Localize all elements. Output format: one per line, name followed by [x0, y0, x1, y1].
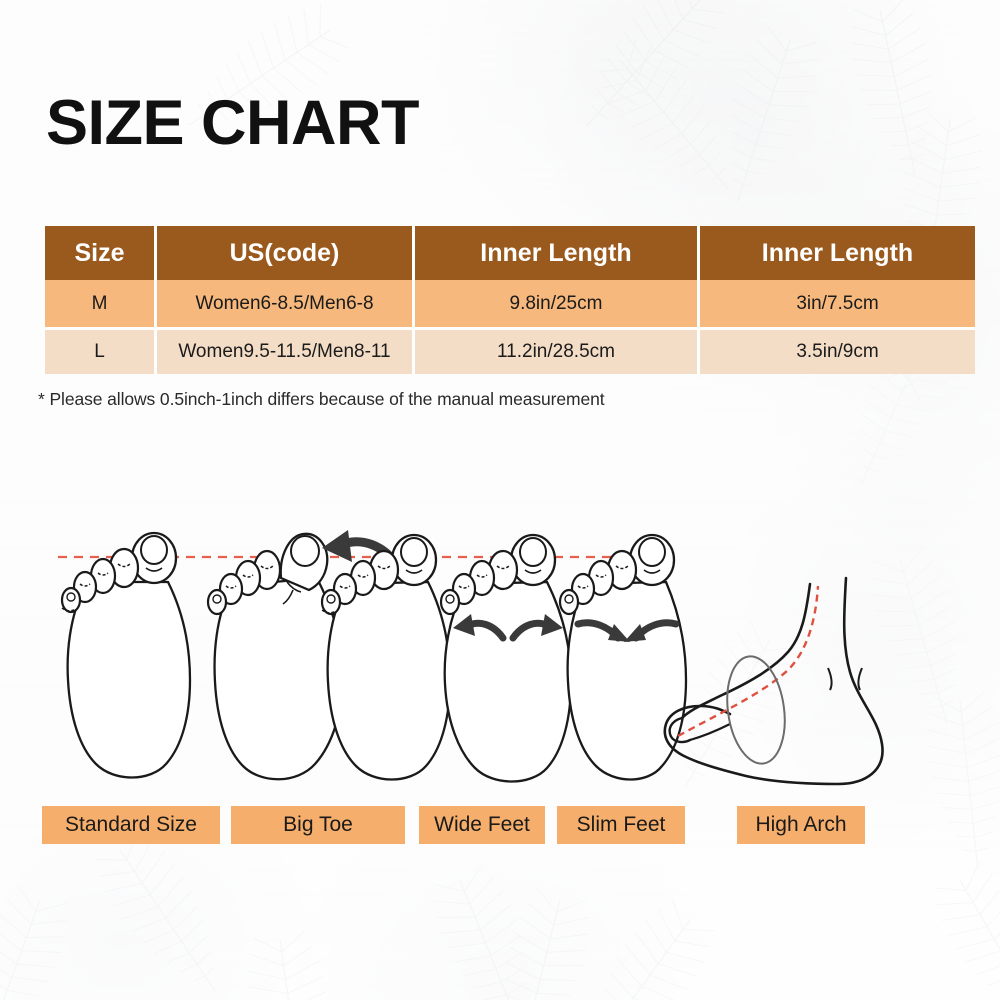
cell-inner-length-2: 3in/7.5cm: [700, 280, 975, 330]
arch-height-dashed-line: [678, 586, 818, 736]
size-chart-page: SIZE CHART Size US(code) Inner Length In…: [0, 0, 1000, 1000]
arch-measure-loop-icon: [721, 653, 791, 768]
cell-inner-length-1: 9.8in/25cm: [415, 280, 700, 330]
foot-sole-wide-icon: [441, 535, 571, 782]
foot-label-high-arch: High Arch: [737, 806, 865, 844]
column-header-inner-length-2: Inner Length: [700, 226, 975, 280]
column-header-inner-length-1: Inner Length: [415, 226, 700, 280]
foot-sole-standard-icon: [62, 533, 190, 778]
page-title: SIZE CHART: [46, 92, 419, 155]
cell-us-code: Women6-8.5/Men6-8: [157, 280, 415, 330]
size-table: Size US(code) Inner Length Inner Length …: [45, 226, 975, 374]
foot-label-wide-feet: Wide Feet: [419, 806, 545, 844]
measurement-note: * Please allows 0.5inch-1inch differs be…: [38, 389, 605, 410]
foot-label-standard-size: Standard Size: [42, 806, 220, 844]
foot-sole-bigtoe-icon: [208, 534, 343, 779]
cell-inner-length-1: 11.2in/28.5cm: [415, 330, 700, 374]
cell-us-code: Women9.5-11.5/Men8-11: [157, 330, 415, 374]
cell-inner-length-2: 3.5in/9cm: [700, 330, 975, 374]
table-row: M Women6-8.5/Men6-8 9.8in/25cm 3in/7.5cm: [45, 280, 975, 330]
foot-profile-higharch-icon: [665, 578, 883, 784]
foot-sole-third-icon: [322, 535, 450, 780]
table-header-row: Size US(code) Inner Length Inner Length: [45, 226, 975, 280]
cell-size: L: [45, 330, 157, 374]
table-row: L Women9.5-11.5/Men8-11 11.2in/28.5cm 3.…: [45, 330, 975, 374]
foot-type-diagram: [0, 520, 1000, 810]
cell-size: M: [45, 280, 157, 330]
foot-label-big-toe: Big Toe: [231, 806, 405, 844]
foot-label-slim-feet: Slim Feet: [557, 806, 685, 844]
column-header-us-code: US(code): [157, 226, 415, 280]
column-header-size: Size: [45, 226, 157, 280]
